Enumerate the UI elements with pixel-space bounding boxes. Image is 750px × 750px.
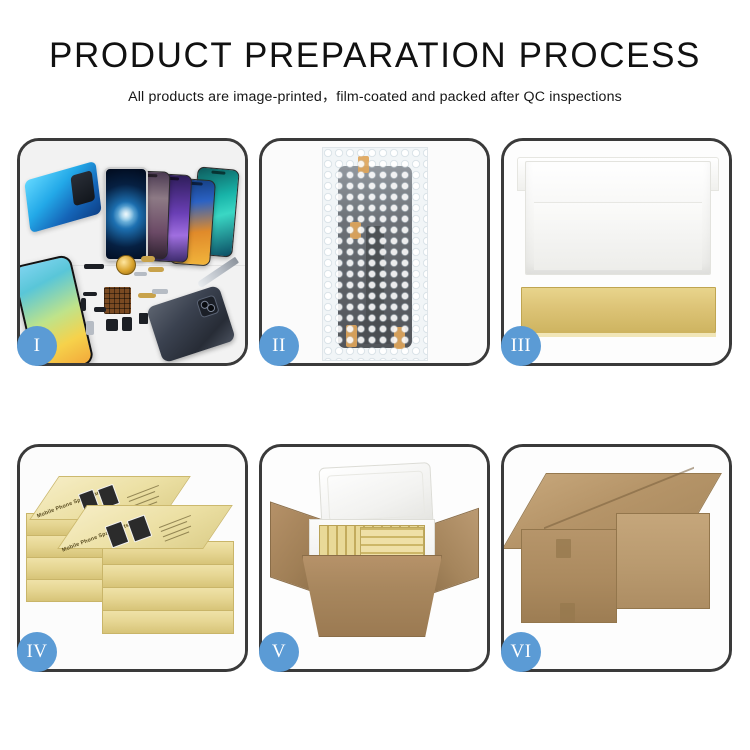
step-badge-1: I: [17, 326, 57, 366]
camera-module-icon: [106, 319, 118, 331]
process-step-carton-packing: V: [259, 444, 490, 672]
step-badge-2: II: [259, 326, 299, 366]
step-badge-4: IV: [17, 632, 57, 672]
step-1-image: [20, 141, 245, 363]
chip-grid-icon: [104, 287, 131, 314]
step-5-image: [262, 447, 487, 669]
part-bar-icon: [83, 292, 97, 296]
tape-tab-icon: [394, 327, 405, 349]
carton-tape-icon: [556, 539, 571, 558]
screen-protector-icon: [24, 161, 102, 234]
sim-tray-icon: [86, 321, 94, 335]
stacked-box: [102, 587, 234, 611]
process-steps-grid: I II: [17, 138, 733, 678]
step-3-image: [504, 141, 729, 363]
bubble-wrap-bag-icon: [322, 147, 428, 361]
camera-bump-icon: [196, 294, 220, 318]
flex-cable-icon: [148, 267, 164, 272]
stacked-box: [102, 610, 234, 634]
process-step-sealed-carton: VI: [501, 444, 732, 672]
tape-tab-icon: [358, 156, 369, 173]
box-lid-foam-icon: [525, 161, 711, 275]
tape-tab-icon: [346, 325, 357, 347]
part-bar-icon: [84, 264, 104, 269]
stacked-box: [102, 564, 234, 588]
notch-icon: [211, 171, 225, 175]
connector-icon: [359, 320, 391, 344]
product-preparation-process-infographic: PRODUCT PREPARATION PROCESS All products…: [0, 0, 750, 750]
carton-body-icon: [302, 555, 442, 637]
bracket-icon: [152, 289, 168, 294]
bracket-icon: [134, 272, 147, 276]
process-step-stacked-boxes: Mobile Phone Spare Parts Mobile Phone Sp…: [17, 444, 248, 672]
step-badge-5: V: [259, 632, 299, 672]
part-bar-icon: [81, 298, 86, 311]
box-front-edge: [521, 333, 716, 337]
process-step-inner-box: III: [501, 138, 732, 366]
step-4-image: Mobile Phone Spare Parts Mobile Phone Sp…: [20, 447, 245, 669]
phone-back-housing-icon: [146, 285, 236, 363]
vibrator-icon: [122, 317, 132, 331]
part-bar-icon: [94, 307, 106, 312]
step-badge-6: VI: [501, 632, 541, 672]
process-step-phones-and-parts: I: [17, 138, 248, 366]
header: PRODUCT PREPARATION PROCESS All products…: [0, 38, 750, 106]
flex-cable-icon: [141, 256, 155, 262]
speaker-coil-icon: [116, 255, 136, 275]
page-title: PRODUCT PREPARATION PROCESS: [0, 38, 750, 75]
tape-tab-icon: [350, 222, 361, 239]
page-subtitle: All products are image-printed，film-coat…: [0, 86, 750, 106]
carton-side-face-icon: [616, 513, 710, 609]
phone-dark-screen-icon: [104, 167, 148, 261]
carton-tape-icon: [560, 603, 575, 622]
step-2-image: [262, 141, 487, 363]
box-stack: Mobile Phone Spare Parts Mobile Phone Sp…: [26, 471, 240, 649]
step-badge-3: III: [501, 326, 541, 366]
wrapped-display-assembly-icon: [338, 166, 412, 348]
step-6-image: [504, 447, 729, 669]
sim-card-icon: [139, 313, 148, 324]
process-step-bubble-wrap: II: [259, 138, 490, 366]
yellow-box-base-icon: [521, 287, 716, 335]
